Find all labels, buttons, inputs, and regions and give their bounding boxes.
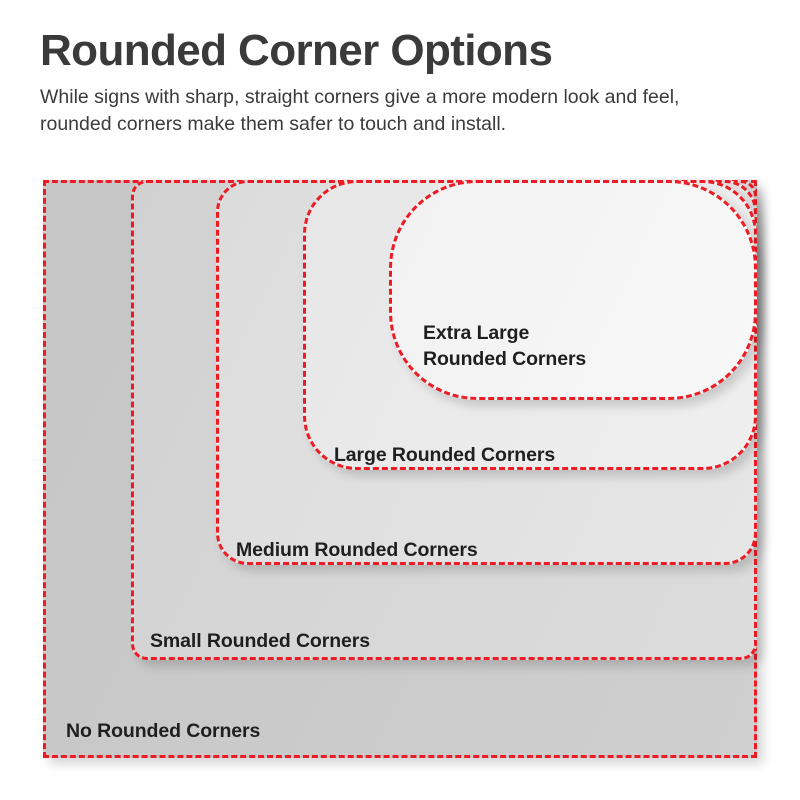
rounded-corner-diagram: No Rounded Corners Small Rounded Corners… <box>0 170 800 800</box>
corner-label-large-rounded: Large Rounded Corners <box>334 442 555 468</box>
header: Rounded Corner Options While signs with … <box>40 26 760 138</box>
corner-label-no-rounded: No Rounded Corners <box>66 718 260 744</box>
corner-label-small-rounded: Small Rounded Corners <box>150 628 370 654</box>
infographic-canvas: Rounded Corner Options While signs with … <box>0 0 800 800</box>
corner-label-extra-large-rounded: Extra Large Rounded Corners <box>423 320 586 372</box>
page-title: Rounded Corner Options <box>40 26 760 76</box>
page-subtitle: While signs with sharp, straight corners… <box>40 84 730 138</box>
corner-label-medium-rounded: Medium Rounded Corners <box>236 537 478 563</box>
